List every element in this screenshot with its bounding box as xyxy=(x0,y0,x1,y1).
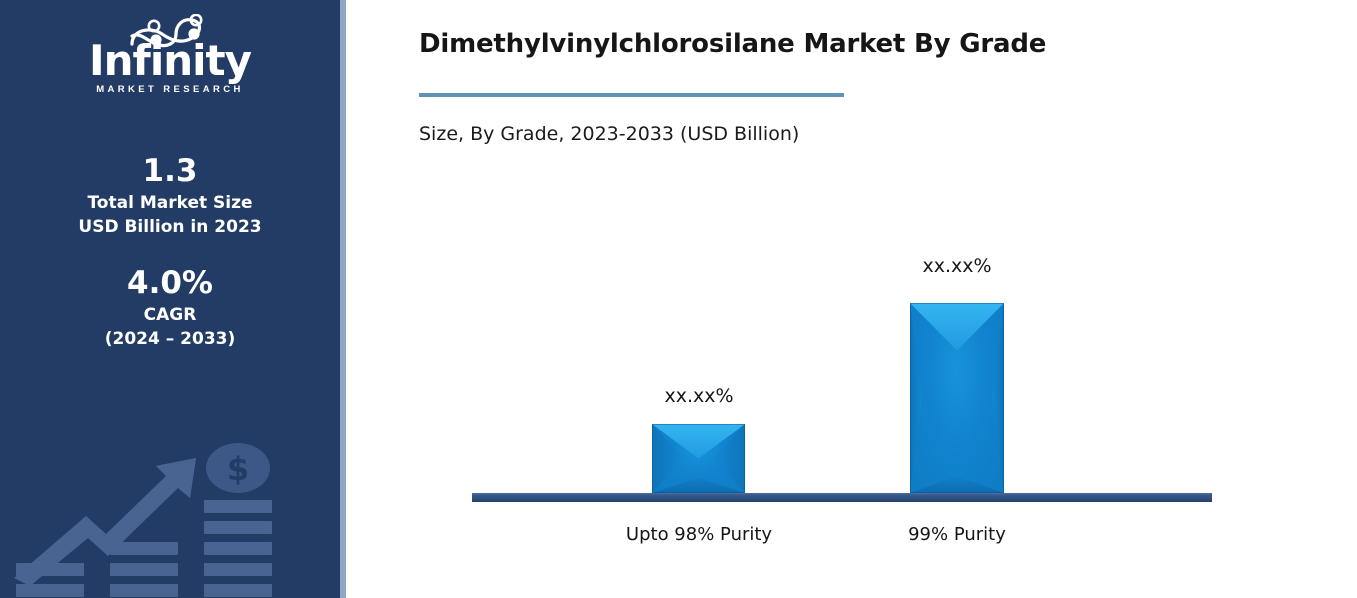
category-label-1: 99% Purity xyxy=(827,524,1087,545)
bar-rim-0 xyxy=(652,424,745,493)
cagr-label1: CAGR xyxy=(0,303,340,328)
svg-text:$: $ xyxy=(227,450,249,488)
chart-infographic-page: Infinity MARKET RESEARCH 1.3 Total Marke… xyxy=(0,0,1357,598)
bar-group-1: xx.xx% xyxy=(857,0,1057,502)
dollar-coin-icon: $ xyxy=(206,443,270,493)
stats-spacer xyxy=(0,240,340,264)
bar-1[interactable] xyxy=(910,303,1004,493)
brand-name: Infinity xyxy=(0,36,340,85)
brand-sidebar: Infinity MARKET RESEARCH 1.3 Total Marke… xyxy=(0,0,340,598)
bar-group-0: xx.xx% xyxy=(599,0,799,502)
brand-tagline: MARKET RESEARCH xyxy=(0,84,340,95)
chart-panel: Dimethylvinylchlorosilane Market By Grad… xyxy=(346,0,1357,598)
market-size-label2: USD Billion in 2023 xyxy=(0,215,340,240)
bar-rim-1 xyxy=(910,303,1004,493)
bar-chart-plot: xx.xx% xx.xx% xyxy=(346,0,1357,598)
growth-decoration: $ xyxy=(0,428,340,598)
axis-baseline xyxy=(472,493,1212,502)
bar-value-label-0: xx.xx% xyxy=(599,385,799,407)
category-label-0: Upto 98% Purity xyxy=(569,524,829,545)
bar-value-label-1: xx.xx% xyxy=(857,255,1057,277)
bar-0[interactable] xyxy=(652,424,745,493)
cagr-value: 4.0% xyxy=(0,264,340,303)
market-size-value: 1.3 xyxy=(0,152,340,191)
key-stats: 1.3 Total Market Size USD Billion in 202… xyxy=(0,152,340,352)
cagr-label2: (2024 – 2033) xyxy=(0,327,340,352)
market-size-label1: Total Market Size xyxy=(0,191,340,216)
brand-logo: Infinity MARKET RESEARCH xyxy=(0,14,340,98)
